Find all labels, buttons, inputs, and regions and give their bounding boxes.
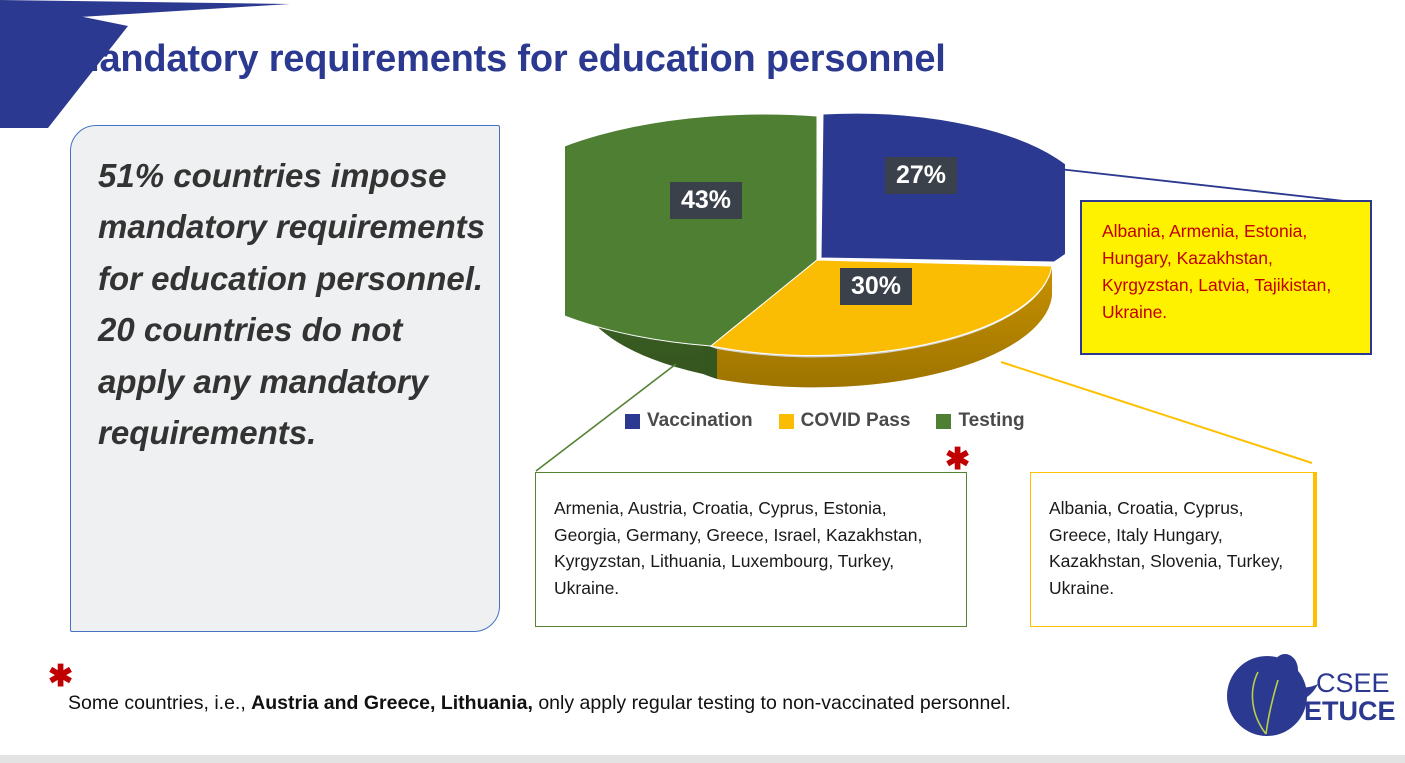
callout-testing-text: Armenia, Austria, Croatia, Cyprus, Eston… xyxy=(554,498,922,598)
pie-slice-testing-side-b xyxy=(703,344,717,379)
logo-text-etuce: ETUCE xyxy=(1304,696,1396,726)
chart-legend: Vaccination COVID Pass Testing xyxy=(625,410,1025,432)
legend-item-vaccination[interactable]: Vaccination xyxy=(625,410,753,432)
footnote: Some countries, i.e., Austria and Greece… xyxy=(68,692,1011,715)
legend-swatch-testing xyxy=(936,414,951,429)
logo-figure-head xyxy=(1272,654,1298,686)
callout-vaccination-text: Albania, Armenia, Estonia, Hungary, Kaza… xyxy=(1102,221,1331,322)
pie-label-testing: 43% xyxy=(670,182,742,219)
legend-label-covid-pass: COVID Pass xyxy=(801,410,911,432)
callout-vaccination: Albania, Armenia, Estonia, Hungary, Kaza… xyxy=(1080,200,1372,355)
callout-covid-pass-text: Albania, Croatia, Cyprus, Greece, Italy … xyxy=(1049,498,1283,598)
slide-canvas: Mandatory requirements for education per… xyxy=(0,0,1405,763)
pie-label-vaccination: 27% xyxy=(885,157,957,194)
asterisk-marker-legend: ✱ xyxy=(945,445,970,475)
footnote-suffix: only apply regular testing to non-vaccin… xyxy=(533,692,1011,714)
footnote-prefix: Some countries, i.e., xyxy=(68,692,251,714)
legend-swatch-vaccination xyxy=(625,414,640,429)
csee-etuce-logo: CSEE ETUCE xyxy=(1222,648,1397,743)
connector-vaccination xyxy=(1041,167,1371,204)
footnote-emphasis: Austria and Greece, Lithuania, xyxy=(251,692,533,714)
legend-label-vaccination: Vaccination xyxy=(647,410,753,432)
callout-testing: Armenia, Austria, Croatia, Cyprus, Eston… xyxy=(535,472,967,627)
statement-text: 51% countries impose mandatory requireme… xyxy=(98,150,488,459)
asterisk-marker-footnote: ✱ xyxy=(48,662,73,692)
page-title: Mandatory requirements for education per… xyxy=(68,38,946,81)
callout-covid-pass: Albania, Croatia, Cyprus, Greece, Italy … xyxy=(1030,472,1317,627)
logo-text-csee: CSEE xyxy=(1316,668,1390,698)
pie-chart xyxy=(565,112,1065,392)
legend-item-testing[interactable]: Testing xyxy=(936,410,1024,432)
legend-label-testing: Testing xyxy=(958,410,1024,432)
legend-swatch-covid-pass xyxy=(779,414,794,429)
pie-label-covid-pass: 30% xyxy=(840,268,912,305)
legend-item-covid-pass[interactable]: COVID Pass xyxy=(779,410,911,432)
page-bottom-edge xyxy=(0,755,1405,763)
